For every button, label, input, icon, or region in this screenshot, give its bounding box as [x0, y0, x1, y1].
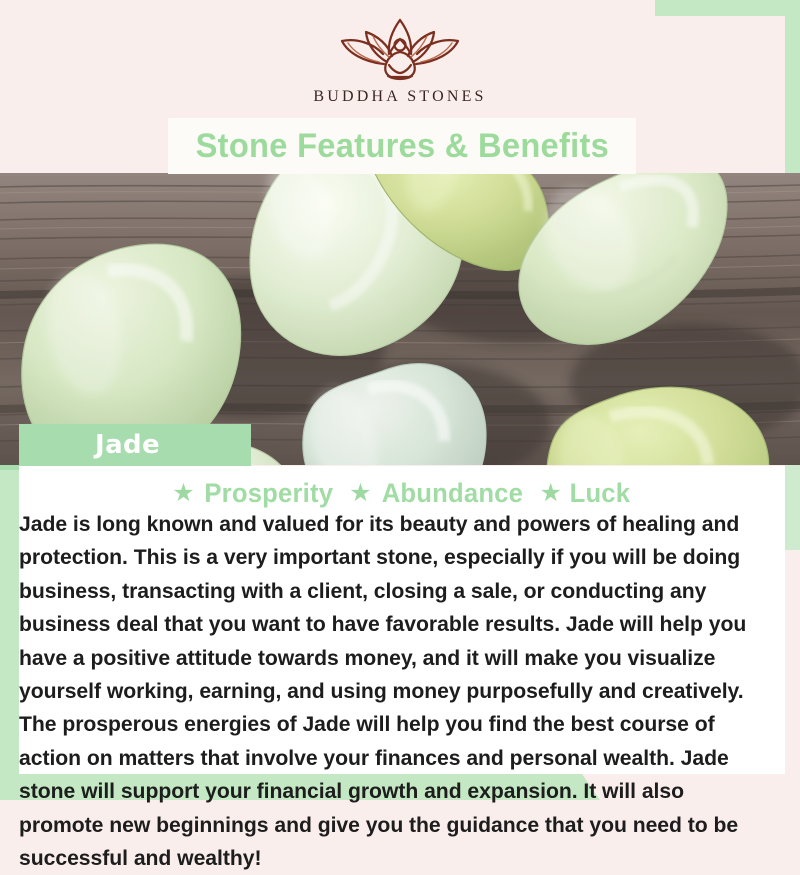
decorative-top-band-mask: [0, 0, 655, 16]
star-icon: ★: [172, 481, 194, 506]
stone-info-card: BUDDHA STONES Stone Features & Benefits: [0, 0, 800, 800]
brand-name: BUDDHA STONES: [313, 88, 486, 106]
keyword-item-abundance: ★ Abundance: [349, 478, 526, 509]
keyword-item-luck: ★ Luck: [539, 478, 631, 509]
lotus-meditation-icon: [325, 16, 475, 86]
keyword-label: Abundance: [381, 478, 522, 509]
keyword-item-prosperity: ★ Prosperity: [172, 478, 336, 509]
stone-photo: [0, 173, 800, 465]
stone-photo-graphic: [0, 173, 800, 465]
keyword-label: Luck: [570, 478, 631, 509]
decorative-left-band-lower: [0, 470, 19, 800]
star-icon: ★: [539, 481, 561, 506]
brand-header: BUDDHA STONES: [0, 16, 800, 120]
decorative-right-band-mask: [785, 550, 800, 800]
stone-name: Jade: [19, 430, 160, 460]
page-title: Stone Features & Benefits: [195, 127, 608, 166]
title-banner: Stone Features & Benefits: [168, 118, 636, 174]
keyword-label: Prosperity: [204, 478, 333, 509]
benefit-keywords: ★ Prosperity ★ Abundance ★ Luck: [19, 478, 785, 508]
stone-description: Jade is long known and valued for its be…: [19, 508, 777, 875]
stone-name-banner: Jade: [19, 424, 251, 466]
star-icon: ★: [349, 481, 371, 506]
